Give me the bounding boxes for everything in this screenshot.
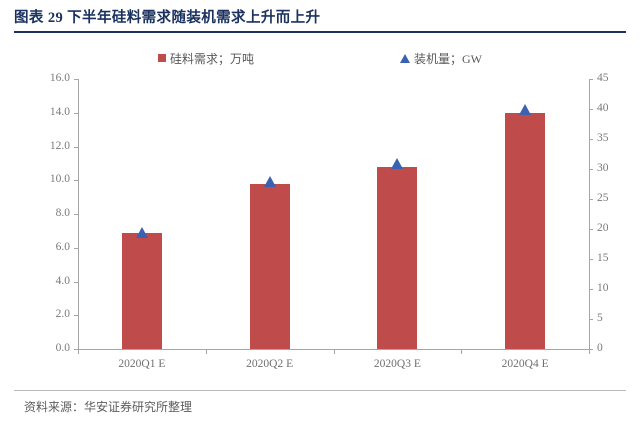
bar-2	[250, 184, 290, 349]
plot-area	[78, 79, 588, 349]
y-axis-left-tick-label: 8.0	[56, 208, 70, 219]
y-axis-left-tick-label: 4.0	[56, 276, 70, 287]
bar-1	[122, 233, 162, 349]
bar-3	[377, 167, 417, 349]
marker-4	[519, 104, 531, 115]
x-axis-tick	[461, 349, 462, 354]
marker-1	[136, 227, 148, 238]
y-axis-right-tick-label: 20	[597, 223, 609, 234]
chart-legend: 硅料需求；万吨 装机量；GW	[150, 49, 550, 69]
y-axis-right-tick-label: 15	[597, 253, 609, 264]
legend-label: 装机量；GW	[414, 50, 482, 67]
legend-square-icon	[158, 54, 166, 62]
y-axis-right-tick	[589, 319, 593, 320]
y-axis-right-tick-label: 35	[597, 133, 609, 144]
y-axis-left-tick-label: 16.0	[50, 73, 70, 84]
y-axis-right-tick	[589, 79, 593, 80]
y-axis-right-tick	[589, 169, 593, 170]
x-axis-label-2: 2020Q2 E	[206, 357, 334, 371]
y-axis-right-tick	[589, 259, 593, 260]
x-axis-label-3: 2020Q3 E	[334, 357, 462, 371]
y-axis-right: 051015202530354045	[589, 0, 640, 422]
y-axis-right-tick	[589, 199, 593, 200]
x-axis-label-1: 2020Q1 E	[78, 357, 206, 371]
x-axis-tick	[334, 349, 335, 354]
chart-figure: 图表 29 下半年硅料需求随装机需求上升而上升 硅料需求；万吨 装机量；GW 0…	[0, 0, 640, 422]
y-axis-left-tick-label: 2.0	[56, 309, 70, 320]
y-axis-left-tick-label: 10.0	[50, 174, 70, 185]
y-axis-right-tick-label: 0	[597, 343, 603, 354]
legend-label: 硅料需求；万吨	[170, 50, 254, 67]
x-axis-label-4: 2020Q4 E	[461, 357, 589, 371]
y-axis-right-tick-label: 5	[597, 313, 603, 324]
y-axis-right-tick	[589, 139, 593, 140]
page-title: 图表 29 下半年硅料需求随装机需求上升而上升	[14, 8, 626, 28]
y-axis-left-tick-label: 12.0	[50, 141, 70, 152]
legend-item-silicon-demand[interactable]: 硅料需求；万吨	[158, 49, 254, 67]
x-axis-tick	[206, 349, 207, 354]
title-bar: 图表 29 下半年硅料需求随装机需求上升而上升	[14, 8, 626, 36]
bar-4	[505, 113, 545, 349]
y-axis-right-tick	[589, 109, 593, 110]
y-axis-right-tick	[589, 229, 593, 230]
x-axis-tick	[589, 349, 590, 354]
marker-3	[391, 158, 403, 169]
y-axis-right-tick-label: 25	[597, 193, 609, 204]
y-axis-right-tick-label: 10	[597, 283, 609, 294]
legend-triangle-icon	[400, 54, 410, 63]
y-axis-right-tick-label: 45	[597, 73, 609, 84]
source-note: 资料来源：华安证券研究所整理	[24, 398, 192, 415]
y-axis-left: 0.02.04.06.08.010.012.014.016.0	[0, 0, 78, 422]
y-axis-left-tick-label: 0.0	[56, 343, 70, 354]
y-axis-left-tick-label: 6.0	[56, 242, 70, 253]
x-axis-tick	[78, 349, 79, 354]
y-axis-left-tick-label: 14.0	[50, 107, 70, 118]
y-axis-right-tick-label: 40	[597, 103, 609, 114]
y-axis-right-tick	[589, 289, 593, 290]
title-divider	[14, 31, 626, 33]
marker-2	[264, 176, 276, 187]
footer-divider	[14, 390, 626, 391]
legend-item-installed-capacity[interactable]: 装机量；GW	[400, 49, 482, 67]
y-axis-right-tick-label: 30	[597, 163, 609, 174]
